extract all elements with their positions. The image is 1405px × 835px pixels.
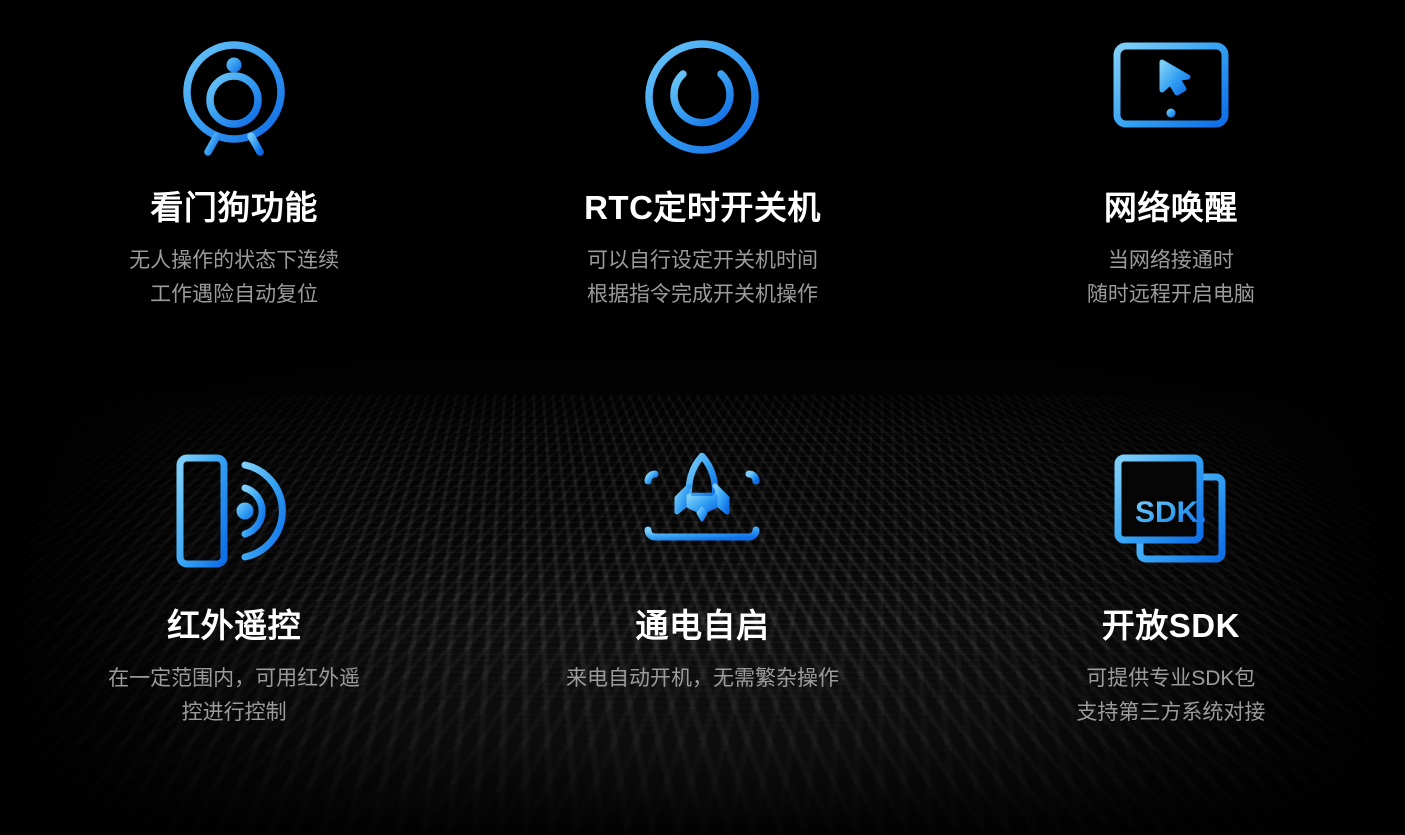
webcam-icon <box>169 32 299 162</box>
feature-card-open-sdk[interactable]: SDK. 开放SDK 可提供专业SDK包 支持第三方系统对接 <box>937 418 1405 835</box>
feature-title: 开放SDK <box>1102 608 1240 644</box>
feature-description-line: 根据指令完成开关机操作 <box>587 278 818 312</box>
feature-title: 看门狗功能 <box>150 190 318 226</box>
feature-description: 可以自行设定开关机时间 根据指令完成开关机操作 <box>587 244 818 312</box>
feature-description-line: 工作遇险自动复位 <box>129 278 339 312</box>
feature-description-line: 可提供专业SDK包 <box>1076 662 1265 696</box>
monitor-cursor-icon <box>1106 32 1236 162</box>
feature-description: 无人操作的状态下连续 工作遇险自动复位 <box>129 244 339 312</box>
feature-card-watchdog[interactable]: 看门狗功能 无人操作的状态下连续 工作遇险自动复位 <box>0 0 468 418</box>
feature-title: 通电自启 <box>635 608 769 644</box>
feature-title: 网络唤醒 <box>1104 190 1238 226</box>
feature-description: 来电自动开机，无需繁杂操作 <box>566 662 839 696</box>
feature-card-ir-remote[interactable]: 红外遥控 在一定范围内，可用红外遥 控进行控制 <box>0 418 468 835</box>
feature-description: 可提供专业SDK包 支持第三方系统对接 <box>1076 662 1265 730</box>
feature-grid-page: 看门狗功能 无人操作的状态下连续 工作遇险自动复位 RTC定时开关机 可以自行设… <box>0 0 1405 835</box>
feature-card-auto-power-on[interactable]: 通电自启 来电自动开机，无需繁杂操作 <box>468 418 936 835</box>
feature-description-line: 在一定范围内，可用红外遥 <box>108 662 360 696</box>
sdk-windows-icon: SDK. <box>1106 446 1236 576</box>
feature-card-wake-on-lan[interactable]: 网络唤醒 当网络接通时 随时远程开启电脑 <box>937 0 1405 418</box>
feature-description: 在一定范围内，可用红外遥 控进行控制 <box>108 662 360 730</box>
feature-description-line: 可以自行设定开关机时间 <box>587 244 818 278</box>
feature-description-line: 当网络接通时 <box>1087 244 1255 278</box>
feature-description-line: 支持第三方系统对接 <box>1076 696 1265 730</box>
feature-description-line: 来电自动开机，无需繁杂操作 <box>566 662 839 696</box>
power-icon <box>637 32 767 162</box>
features-grid: 看门狗功能 无人操作的状态下连续 工作遇险自动复位 RTC定时开关机 可以自行设… <box>0 0 1405 835</box>
feature-description-line: 随时远程开启电脑 <box>1087 278 1255 312</box>
feature-description: 当网络接通时 随时远程开启电脑 <box>1087 244 1255 312</box>
ir-remote-icon <box>169 446 299 576</box>
feature-title: 红外遥控 <box>167 608 301 644</box>
monitor-rocket-icon <box>637 446 767 576</box>
feature-title: RTC定时开关机 <box>584 190 821 226</box>
sdk-icon-label: SDK. <box>1135 496 1207 529</box>
feature-description-line: 控进行控制 <box>108 696 360 730</box>
feature-card-rtc-timer[interactable]: RTC定时开关机 可以自行设定开关机时间 根据指令完成开关机操作 <box>468 0 936 418</box>
feature-description-line: 无人操作的状态下连续 <box>129 244 339 278</box>
